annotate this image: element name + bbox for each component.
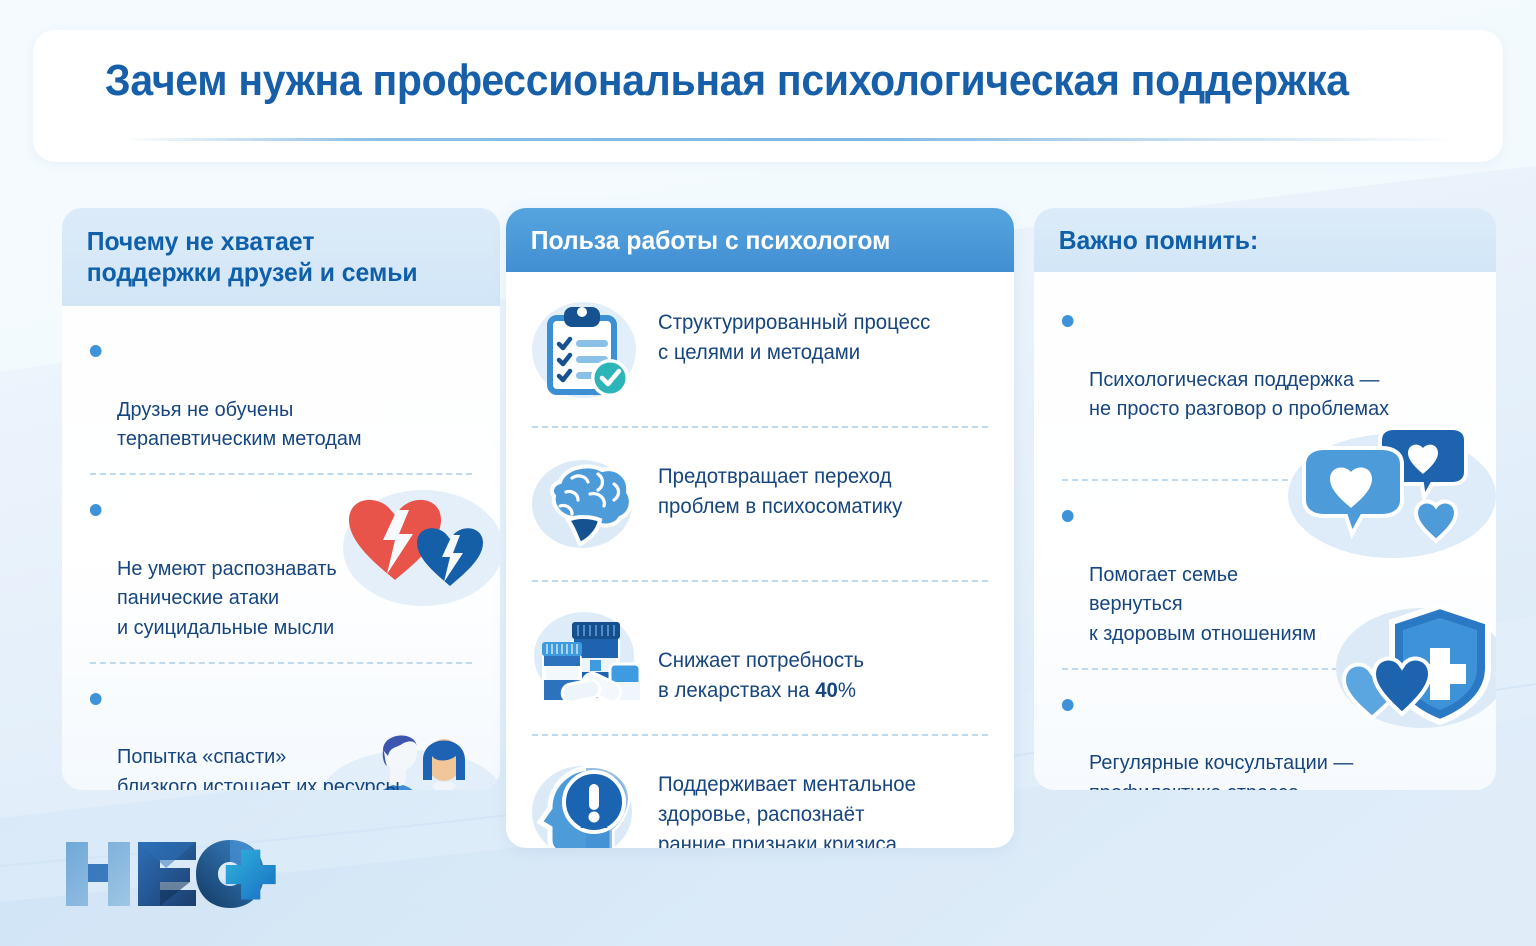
benefit-label: Поддерживает ментальное здоровье, распоз…	[658, 756, 916, 848]
bullet-dot-icon	[1062, 699, 1074, 711]
list-item: Попытка «спасти» близкого истощает их ре…	[86, 684, 464, 790]
page-title: Зачем нужна профессиональная психологиче…	[105, 56, 1349, 106]
brain-icon	[528, 448, 644, 560]
benefit-row: Структурированный процесс с целями и мет…	[528, 294, 992, 406]
list-item: Психологическая поддержка — не просто ра…	[1058, 306, 1460, 423]
divider	[90, 473, 472, 475]
bullet-dot-icon	[90, 504, 102, 516]
card-reasons-friends-insufficient: Почему не хватает поддержки друзей и сем…	[62, 208, 500, 790]
benefit-value: 40	[815, 679, 838, 702]
left-column-title: Почему не хватает поддержки друзей и сем…	[62, 226, 442, 287]
bullet-dot-icon	[1062, 315, 1074, 327]
right-column-title: Важно помнить:	[1034, 225, 1283, 256]
benefit-label: Предотвращает переход проблем в психосом…	[658, 448, 902, 522]
list-item-label: Психологическая поддержка — не просто ра…	[1089, 368, 1389, 420]
list-item-label: Не умеют распознавать панические атаки и…	[117, 557, 337, 639]
divider	[532, 580, 988, 582]
divider	[532, 734, 988, 736]
divider	[1062, 668, 1468, 670]
bullet-dot-icon	[90, 345, 102, 357]
neo-plus-logo[interactable]	[62, 836, 294, 912]
list-item-label: Помогает семье вернуться к здоровым отно…	[1089, 563, 1316, 645]
middle-column-title: Польза работы с психологом	[506, 225, 915, 256]
list-item-label: Друзья не обучены терапевтическим метода…	[117, 398, 362, 450]
benefit-row: Предотвращает переход проблем в психосом…	[528, 448, 992, 560]
pills-bottles-icon	[528, 602, 644, 714]
divider	[1062, 479, 1468, 481]
bullet-dot-icon	[90, 693, 102, 705]
list-item: Не умеют распознавать панические атаки и…	[86, 495, 464, 642]
head-exclamation-icon	[528, 756, 644, 848]
bullet-dot-icon	[1062, 510, 1074, 522]
divider	[532, 426, 988, 428]
list-item: Друзья не обучены терапевтическим метода…	[86, 336, 464, 453]
left-column-header: Почему не хватает поддержки друзей и сем…	[62, 208, 500, 306]
right-column-header: Важно помнить:	[1034, 208, 1496, 272]
benefit-label-suffix: %	[838, 679, 856, 702]
list-item-label: Регулярные кочсультации — профилактика с…	[1089, 751, 1353, 790]
list-item-label: Попытка «спасти» близкого истощает их ре…	[117, 745, 400, 790]
card-benefits-of-psychologist: Польза работы с психологом	[506, 208, 1014, 848]
benefit-label: Структурированный процесс с целями и мет…	[658, 294, 930, 368]
card-important-to-remember: Важно помнить: Психологическая поддержка…	[1034, 208, 1496, 790]
clipboard-checklist-icon	[528, 294, 644, 406]
header-divider	[121, 138, 1461, 141]
header-card: Зачем нужна профессиональная психологиче…	[33, 30, 1503, 162]
benefit-row: Снижает потребность в лекарствах на 40%	[528, 602, 992, 714]
benefit-label: Снижает потребность в лекарствах на 40%	[658, 602, 864, 705]
list-item: Помогает семье вернуться к здоровым отно…	[1058, 501, 1460, 648]
list-item: Регулярные кочсультации — профилактика с…	[1058, 690, 1460, 790]
divider	[90, 662, 472, 664]
benefit-row: Поддерживает ментальное здоровье, распоз…	[528, 756, 992, 848]
middle-column-header: Польза работы с психологом	[506, 208, 1014, 272]
